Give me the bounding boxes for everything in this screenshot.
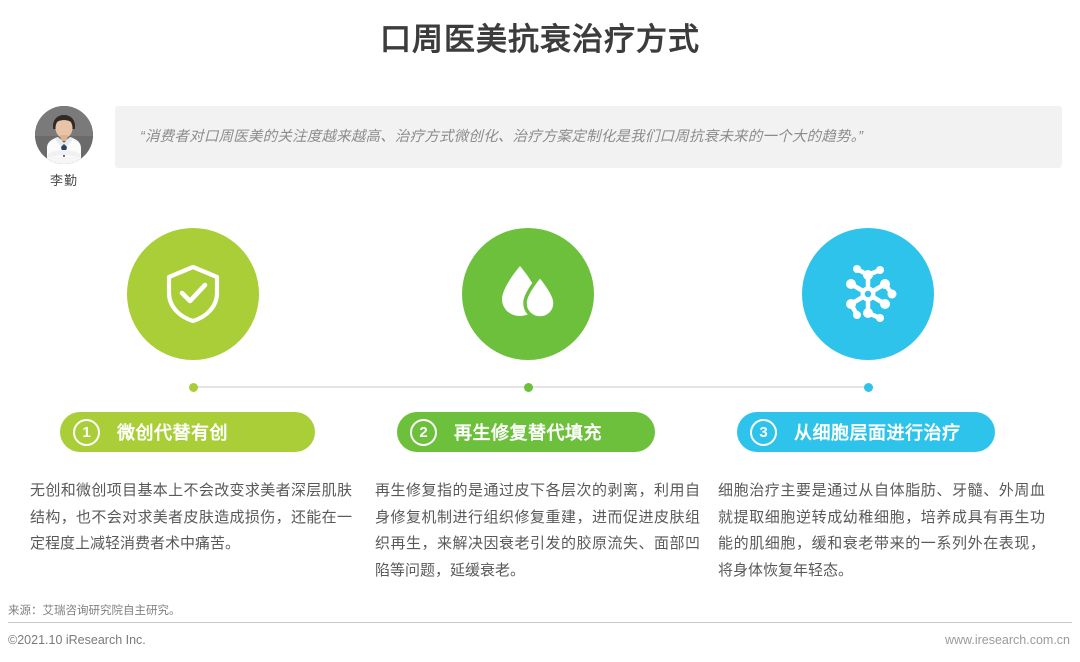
molecule-network-icon [837, 263, 899, 325]
step-description-2: 再生修复指的是通过皮下各层次的剥离，利用自身修复机制进行组织修复重建，进而促进皮… [375, 478, 700, 584]
step-label-1: 微创代替有创 [117, 419, 228, 445]
copyright-text: ©2021.10 iResearch Inc. [8, 633, 146, 647]
step-label-2: 再生修复替代填充 [454, 419, 602, 445]
icon-circles-row [0, 228, 1080, 360]
source-note: 来源：艾瑞咨询研究院自主研究。 [8, 602, 181, 618]
step-pill-2[interactable]: 2 再生修复替代填充 [397, 412, 655, 452]
timeline-dot-1 [189, 383, 198, 392]
step-number-3: 3 [750, 419, 777, 446]
speaker-name: 李勤 [18, 170, 110, 189]
step-description-3: 细胞治疗主要是通过从自体脂肪、牙髓、外周血就提取细胞逆转成幼稚细胞，培养成具有再… [718, 478, 1045, 584]
step-descriptions-row: 无创和微创项目基本上不会改变求美者深层肌肤结构，也不会对求美者皮肤造成损伤，还能… [0, 478, 1080, 588]
step-number-2: 2 [410, 419, 437, 446]
step-circle-1 [127, 228, 259, 360]
quote-section: 李勤 “消费者对口周医美的关注度越来越高、治疗方式微创化、治疗方案定制化是我们口… [18, 106, 1062, 168]
shield-check-icon [163, 263, 223, 325]
step-description-1: 无创和微创项目基本上不会改变求美者深层肌肤结构，也不会对求美者皮肤造成损伤，还能… [30, 478, 352, 558]
step-number-1: 1 [73, 419, 100, 446]
step-circle-3 [802, 228, 934, 360]
doctor-portrait-icon [35, 106, 93, 164]
timeline-connector [193, 386, 868, 388]
footer-divider [8, 622, 1072, 623]
step-pill-3[interactable]: 3 从细胞层面进行治疗 [737, 412, 995, 452]
quote-box: “消费者对口周医美的关注度越来越高、治疗方式微创化、治疗方案定制化是我们口周抗衰… [115, 106, 1062, 168]
timeline-dot-2 [524, 383, 533, 392]
step-pills-row: 1 微创代替有创 2 再生修复替代填充 3 从细胞层面进行治疗 [0, 412, 1080, 452]
website-url: www.iresearch.com.cn [945, 633, 1070, 647]
timeline-dot-3 [864, 383, 873, 392]
speaker-block: 李勤 [18, 106, 110, 189]
step-circle-2 [462, 228, 594, 360]
avatar [35, 106, 93, 164]
page-title: 口周医美抗衰治疗方式 [0, 14, 1080, 59]
water-drops-icon [497, 264, 559, 324]
quote-text: “消费者对口周医美的关注度越来越高、治疗方式微创化、治疗方案定制化是我们口周抗衰… [140, 106, 1048, 168]
step-label-3: 从细胞层面进行治疗 [794, 419, 961, 445]
step-pill-1[interactable]: 1 微创代替有创 [60, 412, 315, 452]
